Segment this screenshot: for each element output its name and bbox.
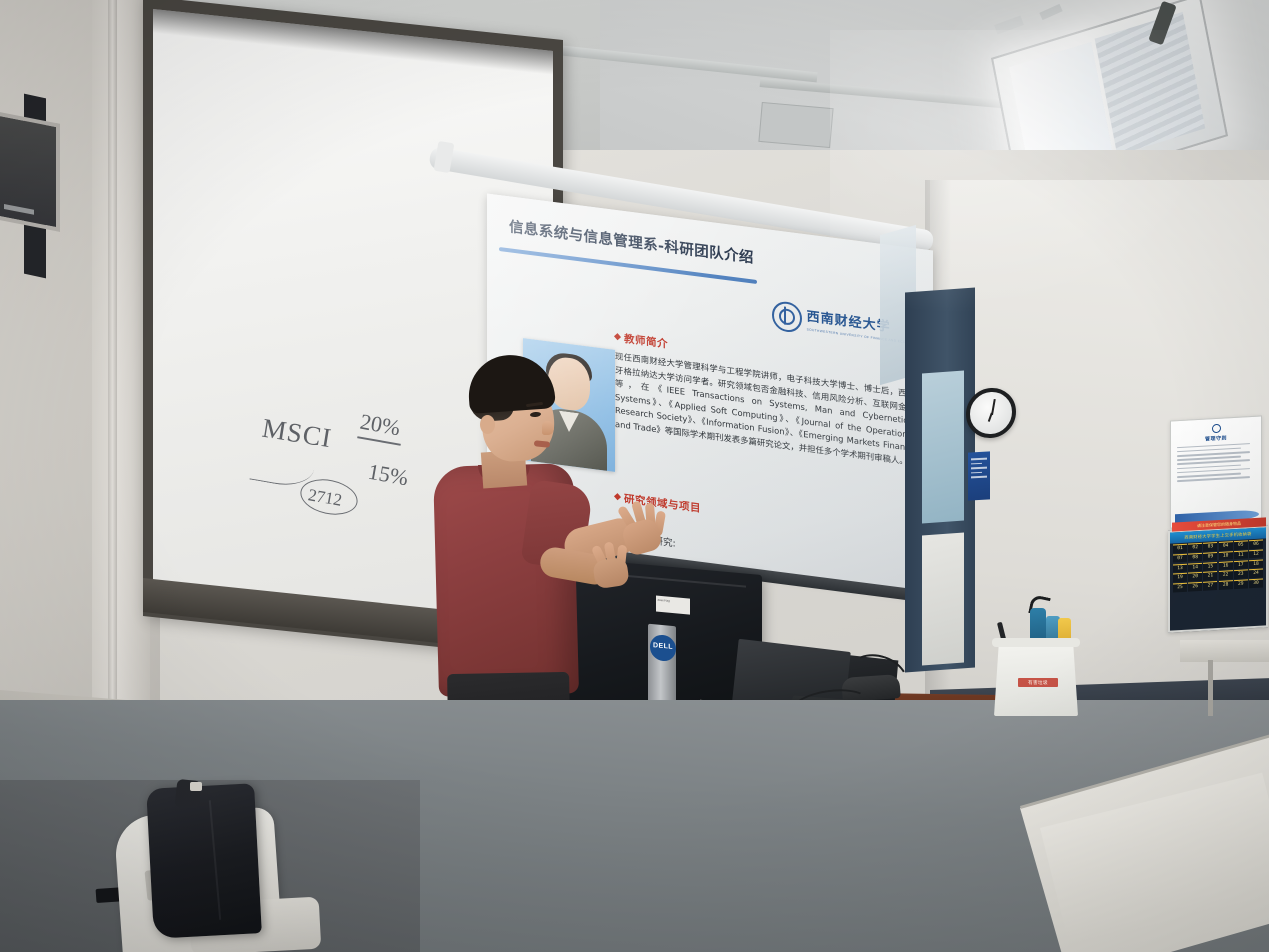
side-desk — [1180, 640, 1269, 662]
pocket-cell[interactable]: 02 — [1188, 543, 1202, 552]
pocket-cell[interactable]: 14 — [1188, 562, 1202, 571]
bag-tag — [190, 782, 202, 791]
pocket-cell[interactable]: 01 — [1173, 544, 1187, 553]
pocket-cell[interactable]: 04 — [1219, 541, 1233, 550]
pocket-cell[interactable]: 23 — [1234, 570, 1248, 579]
pocket-cell[interactable]: 18 — [1249, 559, 1263, 568]
bin-label: 有害垃圾 — [1018, 678, 1058, 687]
bin-rim — [992, 638, 1080, 647]
pocket-cell[interactable]: 27 — [1203, 581, 1217, 590]
pocket-cell[interactable]: 11 — [1234, 550, 1248, 559]
clock-minute-hand — [991, 399, 995, 415]
slide-section-heading-profile: 教师简介 — [615, 330, 668, 352]
sign-line — [971, 472, 982, 474]
pocket-cell[interactable]: 28 — [1219, 580, 1233, 589]
swufe-seal-icon — [772, 300, 802, 334]
diamond-bullet-icon — [614, 333, 621, 340]
notice-poster: 管理守则 — [1170, 415, 1262, 528]
pocket-cell[interactable]: 16 — [1219, 561, 1233, 570]
sign-line — [971, 458, 987, 460]
ceiling-duct-box — [758, 102, 833, 148]
pocket-cell[interactable]: 19 — [1173, 573, 1187, 582]
presenter-person — [430, 355, 670, 755]
pocket-cell[interactable]: 12 — [1249, 549, 1263, 558]
door-glass-panel — [922, 371, 964, 524]
classroom-photo: MSCI 20% 15% 2712 信息系统与信息管理系-科研团队介绍 西南财经… — [0, 0, 1269, 952]
pocket-cell[interactable]: 09 — [1203, 552, 1217, 561]
pocket-cell[interactable]: 17 — [1234, 560, 1248, 569]
pocket-cell[interactable]: 03 — [1203, 542, 1217, 551]
pocket-cell[interactable]: 06 — [1249, 539, 1263, 548]
pocket-cell[interactable]: 15 — [1203, 562, 1217, 571]
blue-wall-sign — [968, 451, 990, 500]
presenter-ear — [480, 415, 495, 434]
sign-line — [971, 462, 982, 464]
pocket-cell[interactable]: 21 — [1203, 571, 1217, 580]
sign-line — [971, 467, 987, 469]
speaker-grill — [4, 204, 34, 215]
pocket-cell[interactable]: 05 — [1234, 540, 1248, 549]
phone-pocket-board: 请注意保管您的随身物品 西南财经大学学生上交手机收纳袋 010203040506… — [1168, 525, 1268, 633]
palm — [592, 557, 630, 589]
pocket-cell[interactable]: 20 — [1188, 572, 1202, 581]
sign-line — [971, 476, 987, 478]
pocket-cell[interactable]: 13 — [1173, 563, 1187, 572]
black-bag — [146, 783, 262, 938]
pocket-cell[interactable]: 22 — [1219, 570, 1233, 579]
pocket-cell[interactable]: 24 — [1249, 569, 1263, 578]
desk-leg — [1208, 660, 1213, 716]
pocket-cell[interactable]: 26 — [1188, 582, 1202, 591]
pocket-cell[interactable]: 08 — [1188, 553, 1202, 562]
pocket-cell[interactable]: 29 — [1234, 579, 1248, 588]
presenter-nose — [542, 421, 554, 435]
pocket-cell[interactable]: 10 — [1219, 551, 1233, 560]
pocket-cell[interactable]: 30 — [1249, 579, 1263, 588]
door-lower-panel — [922, 533, 964, 666]
section-heading-profile-text: 教师简介 — [624, 333, 668, 351]
left-wall-column — [92, 0, 150, 760]
poster-logo-icon — [1212, 424, 1221, 434]
pocket-cell[interactable]: 25 — [1173, 583, 1187, 592]
pocket-board-grid: 0102030405060708091011121314151617181920… — [1173, 539, 1263, 592]
left-wall-pipe — [108, 0, 117, 720]
wall-speaker-icon — [0, 112, 60, 232]
pocket-cell[interactable]: 07 — [1173, 553, 1187, 562]
presenter-hand-left — [590, 545, 634, 591]
